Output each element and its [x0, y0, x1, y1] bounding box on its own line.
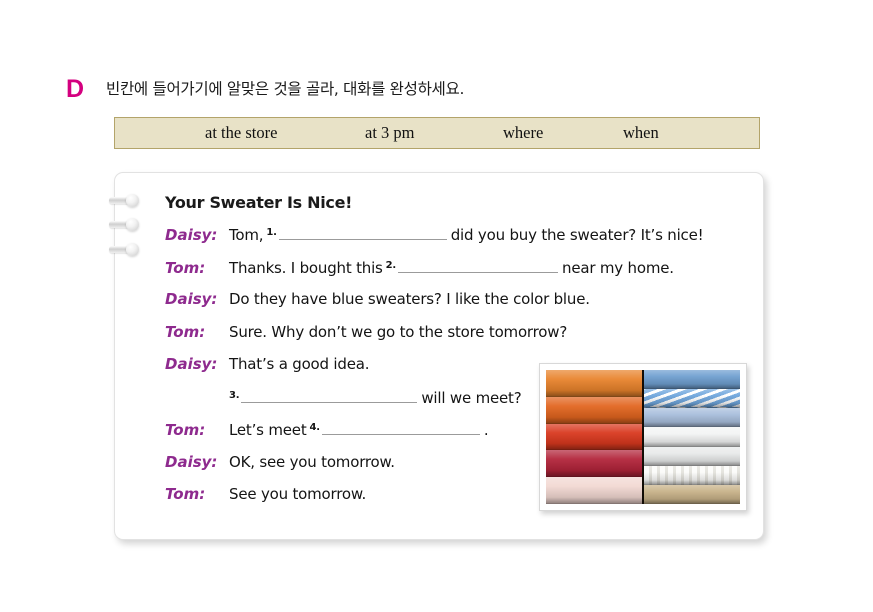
answer-blank-4[interactable] — [322, 420, 480, 435]
sweater-fold — [644, 427, 740, 446]
binder-ring-knob — [126, 218, 139, 231]
blank-number: 1. — [266, 227, 276, 238]
speaker-label: Tom: — [165, 485, 229, 503]
utterance: Tom, 1. did you buy the sweater? It’s ni… — [229, 225, 703, 244]
word-bank-option-0[interactable]: at the store — [205, 123, 277, 143]
binder-ring-knob — [126, 243, 139, 256]
speaker-label: Tom: — [165, 323, 229, 341]
dialogue-line: Tom: Sure. Why don’t we go to the store … — [165, 323, 755, 356]
utterance-before: Let’s meet — [229, 421, 307, 439]
answer-blank-2[interactable] — [398, 258, 558, 273]
speaker-label: Tom: — [165, 259, 229, 277]
sweater-fold — [546, 424, 642, 451]
utterance: Sure. Why don’t we go to the store tomor… — [229, 323, 567, 341]
answer-blank-3[interactable] — [241, 388, 417, 403]
binder-ring-knob — [126, 194, 139, 207]
sweater-fold — [546, 397, 642, 424]
speaker-label: Daisy: — [165, 290, 229, 308]
sweater-fold — [546, 450, 642, 477]
dialogue-line: Daisy: Tom, 1. did you buy the sweater? … — [165, 225, 755, 258]
word-bank-option-2[interactable]: where — [503, 123, 543, 143]
word-bank-option-1[interactable]: at 3 pm — [365, 123, 415, 143]
sweater-fold — [644, 408, 740, 427]
sweater-fold — [644, 466, 740, 485]
blank-number: 3. — [229, 390, 239, 401]
section-letter: D — [66, 76, 106, 102]
dialogue-line: Daisy: Do they have blue sweaters? I lik… — [165, 290, 755, 323]
utterance-after: . — [484, 421, 489, 439]
sweater-stack-left — [546, 370, 644, 504]
sweater-photo — [539, 363, 747, 511]
utterance: Thanks. I bought this 2. near my home. — [229, 258, 674, 277]
utterance: That’s a good idea. — [229, 355, 369, 373]
binder-ring-icon — [109, 243, 145, 256]
sweater-fold — [644, 389, 740, 408]
sweater-fold — [546, 370, 642, 397]
utterance: OK, see you tomorrow. — [229, 453, 395, 471]
utterance-after: will we meet? — [421, 389, 521, 407]
utterance: 3. will we meet? — [229, 388, 521, 407]
dialogue-line: Tom: Thanks. I bought this 2. near my ho… — [165, 258, 755, 291]
speaker-label: Daisy: — [165, 226, 229, 244]
speaker-label: Daisy: — [165, 355, 229, 373]
sweater-fold — [644, 447, 740, 466]
word-bank: at the store at 3 pm where when — [114, 117, 760, 149]
word-bank-option-3[interactable]: when — [623, 123, 659, 143]
utterance-before: Thanks. I bought this — [229, 259, 383, 277]
speaker-label: Daisy: — [165, 453, 229, 471]
utterance-after: near my home. — [562, 259, 674, 277]
dialogue-title: Your Sweater Is Nice! — [165, 193, 352, 212]
sweater-fold — [546, 477, 642, 504]
binder-ring-icon — [109, 218, 145, 231]
answer-blank-1[interactable] — [279, 225, 447, 240]
binder-ring-icon — [109, 194, 145, 207]
utterance: Let’s meet 4. . — [229, 420, 488, 439]
utterance: Do they have blue sweaters? I like the c… — [229, 290, 590, 308]
instruction-row: D 빈칸에 들어가기에 알맞은 것을 골라, 대화를 완성하세요. — [66, 76, 464, 102]
instruction-text: 빈칸에 들어가기에 알맞은 것을 골라, 대화를 완성하세요. — [106, 76, 464, 102]
sweater-stack-image — [546, 370, 740, 504]
speaker-label: Tom: — [165, 421, 229, 439]
dialogue-card: Your Sweater Is Nice! Daisy: Tom, 1. did… — [114, 172, 764, 540]
blank-number: 4. — [310, 422, 320, 433]
sweater-fold — [644, 370, 740, 389]
sweater-stack-right — [644, 370, 740, 504]
blank-number: 2. — [386, 260, 396, 271]
utterance-after: did you buy the sweater? It’s nice! — [451, 226, 704, 244]
sweater-fold — [644, 485, 740, 504]
utterance-before: Tom, — [229, 226, 263, 244]
utterance: See you tomorrow. — [229, 485, 366, 503]
